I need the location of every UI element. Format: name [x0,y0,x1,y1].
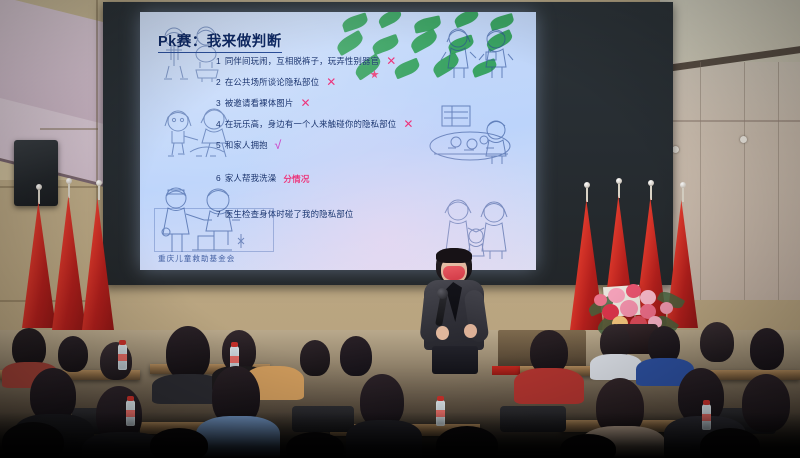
item-text: 在公共场所谈论隐私部位 [225,77,319,87]
audience-shoulders [346,420,422,458]
right-wall-ledge [660,120,800,122]
leaf-icon [334,30,365,56]
audience-head [436,426,498,458]
list-item: 6家人帮我洗澡分情况 [216,173,516,185]
water-bottle [118,344,127,370]
presenter-mask [443,266,465,280]
list-item: 5和家人拥抱√ [216,140,516,151]
answer-mark-cross: ✕ [403,119,413,130]
screenshot-root: Pk赛：我来做判断 1同伴间玩闹，互相脱裤子，玩弄性别器官✕ 2在公共场所谈论隐… [0,0,800,458]
audience [0,316,800,458]
slide-title: Pk赛：我来做判断 [158,30,282,53]
wall-speaker-left [14,140,58,206]
water-bottle [126,400,135,426]
audience-head [742,374,790,432]
flower-icon [660,302,673,314]
presenter-fringe [436,248,472,263]
item-text: 被邀请看裸体图片 [225,98,294,108]
item-number: 2 [216,77,221,88]
audience-head [340,336,372,376]
item-number: 6 [216,173,221,184]
right-wall-seam [778,62,779,300]
audience-head [300,340,330,376]
flower-icon [626,284,641,298]
slide-watermark: 重庆儿童救助基金会 [158,253,235,264]
item-text: 家人帮我洗澡 [225,173,276,183]
audience-head [2,422,64,458]
list-item: 4在玩乐高，身边有一个人来触碰你的隐私部位✕ [216,119,516,130]
answer-mark-cross: ✕ [300,98,310,109]
leaf-icon [453,12,481,28]
audience-shoulders [196,416,280,458]
answer-mark-cross: ✕ [326,77,336,88]
audience-shoulders [514,368,584,404]
microphone-head-icon [437,288,448,299]
water-bottle [702,404,711,430]
right-wall-seam [700,62,701,300]
audience-head [750,328,784,370]
item-text: 和家人拥抱 [225,140,268,150]
item-number: 1 [216,56,221,67]
flower-icon [640,290,656,305]
item-text: 在玩乐高，身边有一个人来触碰你的隐私部位 [225,119,397,129]
answer-mark-conditional: 分情况 [283,174,309,185]
audience-head [58,336,88,372]
audience-head [560,434,616,458]
watermark-frame [154,208,274,252]
audience-head [166,326,210,380]
answer-mark-cross: ✕ [386,56,396,67]
list-item: 3被邀请看裸体图片✕ [216,98,516,109]
audience-head [700,322,734,362]
flower-icon [608,288,625,303]
judgement-question-list: 1同伴间玩闹，互相脱裤子，玩弄性别器官✕ 2在公共场所谈论隐私部位✕ 3被邀请看… [216,56,516,230]
audience-head [700,428,760,458]
audience-shoulders [590,354,642,380]
presentation-slide: Pk赛：我来做判断 1同伴间玩闹，互相脱裤子，玩弄性别器官✕ 2在公共场所谈论隐… [140,12,536,270]
audience-head [100,342,132,380]
wall-hook-icon [740,136,747,143]
audience-head [150,428,208,458]
leaf-icon [377,12,404,29]
flower-icon [620,300,638,317]
item-number: 4 [216,119,221,130]
leaf-icon [341,12,370,32]
answer-mark-check: √ [275,140,282,151]
item-number: 5 [216,140,221,151]
wall-hook-icon [672,146,679,153]
chair-back [500,406,566,432]
item-text: 同伴间玩闹，互相脱裤子，玩弄性别器官 [225,56,379,66]
leaf-icon [408,28,439,54]
item-number: 3 [216,98,221,109]
list-item: 1同伴间玩闹，互相脱裤子，玩弄性别器官✕ [216,56,516,67]
wall-seam [40,128,98,130]
chair-back [292,406,354,432]
leaf-icon [371,34,401,55]
right-wall-seam [744,62,745,300]
list-item: 2在公共场所谈论隐私部位✕ [216,77,516,88]
audience-head [286,432,344,458]
flower-icon [594,294,607,306]
water-bottle [436,400,445,426]
